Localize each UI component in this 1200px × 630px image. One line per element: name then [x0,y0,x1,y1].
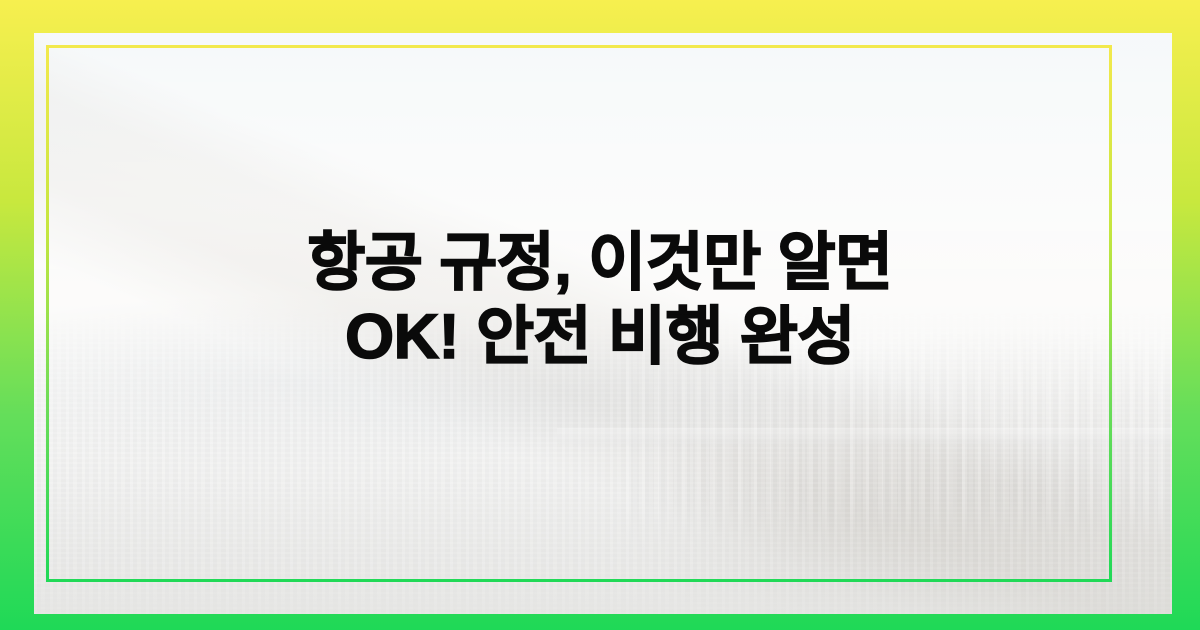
thumbnail-card: 항공 규정, 이것만 알면 OK! 안전 비행 완성 [0,0,1200,630]
headline-block: 항공 규정, 이것만 알면 OK! 안전 비행 완성 [0,0,1200,630]
page-title: 항공 규정, 이것만 알면 OK! 안전 비행 완성 [280,227,920,374]
